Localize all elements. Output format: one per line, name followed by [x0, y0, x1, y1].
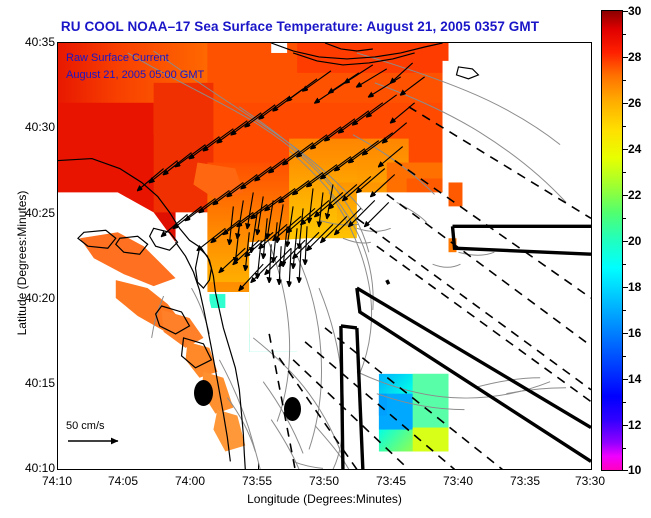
colorbar-minor-tick [622, 126, 626, 127]
ytick [58, 299, 64, 300]
xtick-label: 73:50 [309, 474, 339, 488]
colorbar-minor-tick [622, 264, 626, 265]
plot-inner: Raw Surface Current August 21, 2005 05:0… [58, 43, 591, 469]
colorbar-minor-tick [622, 80, 626, 81]
ytick [58, 214, 64, 215]
colorbar-tick-label: 18 [628, 280, 641, 294]
figure-title: RU COOL NOAA–17 Sea Surface Temperature:… [0, 19, 600, 34]
coastline [58, 43, 591, 469]
xtick [392, 463, 393, 469]
colorbar-tick-label: 10 [628, 463, 641, 477]
ytick [58, 469, 64, 470]
ytick-right [585, 128, 591, 129]
sst-raster [58, 43, 591, 469]
annotation-line-1: Raw Surface Current [66, 50, 204, 67]
radar-station-marker-2 [284, 397, 301, 421]
map-plot-area[interactable]: Raw Surface Current August 21, 2005 05:0… [57, 42, 592, 470]
xtick [258, 463, 259, 469]
colorbar-tick-label: 24 [628, 142, 641, 156]
bathymetry-contours [58, 43, 591, 469]
surface-current-vectors [58, 43, 591, 469]
colorbar-minor-tick [622, 218, 626, 219]
xtick-top [124, 43, 125, 49]
ytick-label: 40:10 [25, 461, 55, 475]
ytick-label: 40:15 [25, 376, 55, 390]
ytick-right [585, 214, 591, 215]
colorbar-minor-tick [622, 356, 626, 357]
ytick-right [585, 384, 591, 385]
xtick-top [392, 43, 393, 49]
xtick-label: 74:00 [175, 474, 205, 488]
colorbar-tick-label: 12 [628, 418, 641, 432]
ytick-label: 40:25 [25, 206, 55, 220]
xtick-label: 73:35 [510, 474, 540, 488]
colorbar-tick-label: 20 [628, 234, 641, 248]
xtick-top [459, 43, 460, 49]
ytick [58, 384, 64, 385]
xtick [526, 463, 527, 469]
ytick [58, 43, 64, 44]
ytick [58, 128, 64, 129]
colorbar-minor-tick [622, 402, 626, 403]
xtick-label: 73:45 [376, 474, 406, 488]
xtick [459, 463, 460, 469]
colorbar-tick-label: 14 [628, 372, 641, 386]
xtick-top [191, 43, 192, 49]
colorbar-tick-label: 30 [628, 4, 641, 18]
vector-scale-key: 50 cm/s [66, 420, 128, 447]
ytick-label: 40:30 [25, 120, 55, 134]
ytick-right [585, 299, 591, 300]
x-axis-title: Longitude (Degrees:Minutes) [57, 492, 592, 506]
xtick [325, 463, 326, 469]
current-annotation: Raw Surface Current August 21, 2005 05:0… [66, 50, 204, 84]
xtick [191, 463, 192, 469]
ytick-label: 40:35 [25, 35, 55, 49]
ytick-right [585, 43, 591, 44]
xtick-label: 74:05 [108, 474, 138, 488]
colorbar-tick-label: 22 [628, 188, 641, 202]
colorbar-minor-tick [622, 310, 626, 311]
vector-scale-label: 50 cm/s [66, 420, 128, 432]
colorbar-tick-label: 16 [628, 326, 641, 340]
colorbar-minor-tick [622, 172, 626, 173]
xtick-label: 74:10 [42, 474, 72, 488]
radar-station-marker-1 [194, 380, 213, 406]
xtick-label: 73:55 [242, 474, 272, 488]
colorbar-minor-tick [622, 448, 626, 449]
sst-figure: RU COOL NOAA–17 Sea Surface Temperature:… [0, 0, 651, 518]
xtick [124, 463, 125, 469]
vector-scale-arrow-icon [66, 435, 128, 447]
ytick-label: 40:20 [25, 291, 55, 305]
annotation-line-2: August 21, 2005 05:00 GMT [66, 67, 204, 84]
xtick-top [258, 43, 259, 49]
colorbar[interactable] [601, 10, 623, 471]
xtick-top [325, 43, 326, 49]
xtick-label: 73:30 [575, 474, 605, 488]
xtick-label: 73:40 [443, 474, 473, 488]
satellite-scan-lines [58, 43, 591, 469]
colorbar-tick-label: 28 [628, 50, 641, 64]
colorbar-minor-tick [622, 34, 626, 35]
y-axis-title: Latitude (Degrees:Minutes) [15, 163, 29, 363]
colorbar-tick-label: 26 [628, 96, 641, 110]
ytick-right [585, 469, 591, 470]
xtick-top [526, 43, 527, 49]
